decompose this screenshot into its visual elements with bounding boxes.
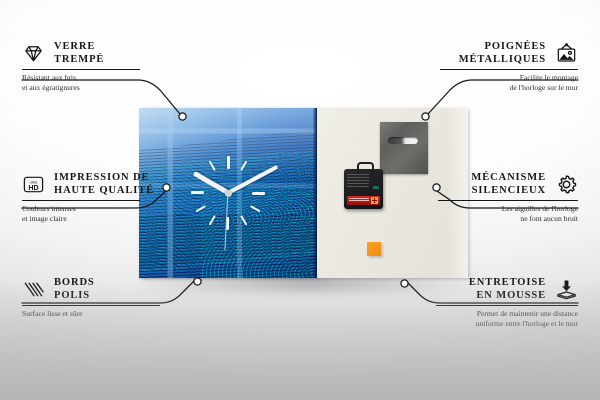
callout-rule [22,305,160,306]
product-image [139,108,468,278]
callout-rule [22,69,140,70]
battery-plus-terminal [371,197,378,204]
callout-poignees-metalliques[interactable]: POIGNÉES MÉTALLIQUES Facilite le montage… [440,41,578,93]
foam-spacer [367,242,381,256]
metal-texture [380,122,428,174]
infographic-canvas: VERRE TREMPÉ Résistant aux bris et aux é… [0,0,600,400]
clock-center-cap [225,190,232,197]
callout-title: VERRE TREMPÉ [54,41,104,66]
callout-subtitle: Surface lisse et sûre [22,309,160,319]
callout-header: VERRE TREMPÉ [22,41,140,66]
callout-subtitle: Permet de maintenir une distance uniform… [436,309,578,329]
callout-title: IMPRESSION DE HAUTE QUALITÉ [54,172,154,197]
callout-header: BORDS POLIS [22,277,160,302]
callout-header: MÉCANISME SILENCIEUX [438,172,578,197]
callout-bords-polis[interactable]: BORDS POLIS Surface lisse et sûre [22,277,160,319]
callout-entretoise-en-mousse[interactable]: ENTRETOISE EN MOUSSE Permet de maintenir… [436,277,578,329]
callout-title: MÉCANISME SILENCIEUX [471,172,546,197]
callout-title: POIGNÉES MÉTALLIQUES [459,41,546,66]
hanger-keyhole-slot [388,137,418,144]
metal-hanger-plate [380,122,428,174]
callout-subtitle: Couleurs intenses et image claire [22,204,140,224]
callout-rule [22,200,140,201]
callout-rule [436,305,578,306]
callout-subtitle: Facilite le montage de l'horloge sur le … [440,73,578,93]
picture-frame-icon [555,42,578,65]
polished-edges-icon [22,278,45,301]
callout-subtitle: Résistant aux bris et aux égratignures [22,73,140,93]
callout-title: ENTRETOISE EN MOUSSE [469,277,546,302]
callout-impression-haute-qualite[interactable]: ultra HD IMPRESSION DE HAUTE QUALITÉ Cou… [22,172,140,224]
callout-title: BORDS POLIS [54,277,95,302]
gear-icon [555,173,578,196]
clock-mechanism [344,169,383,209]
clock-front-panel [139,108,317,278]
callout-verre-trempe[interactable]: VERRE TREMPÉ Résistant aux bris et aux é… [22,41,140,93]
mechanism-contact [373,186,379,189]
battery-label [349,198,369,202]
callout-mecanisme-silencieux[interactable]: MÉCANISME SILENCIEUX Les aiguilles de l'… [438,172,578,224]
callout-header: POIGNÉES MÉTALLIQUES [440,41,578,66]
callout-header: ultra HD IMPRESSION DE HAUTE QUALITÉ [22,172,140,197]
battery [347,196,380,205]
diamond-icon [22,42,45,65]
foam-spacer-icon [555,278,578,301]
ultra-hd-icon: ultra HD [22,173,45,196]
svg-text:HD: HD [28,184,38,192]
callout-rule [438,200,578,201]
mechanism-hanger-loop [357,162,374,173]
callout-subtitle: Les aiguilles de l'horloge ne font aucun… [438,204,578,224]
callout-rule [440,69,578,70]
callout-header: ENTRETOISE EN MOUSSE [436,277,578,302]
mechanism-label [347,174,369,187]
